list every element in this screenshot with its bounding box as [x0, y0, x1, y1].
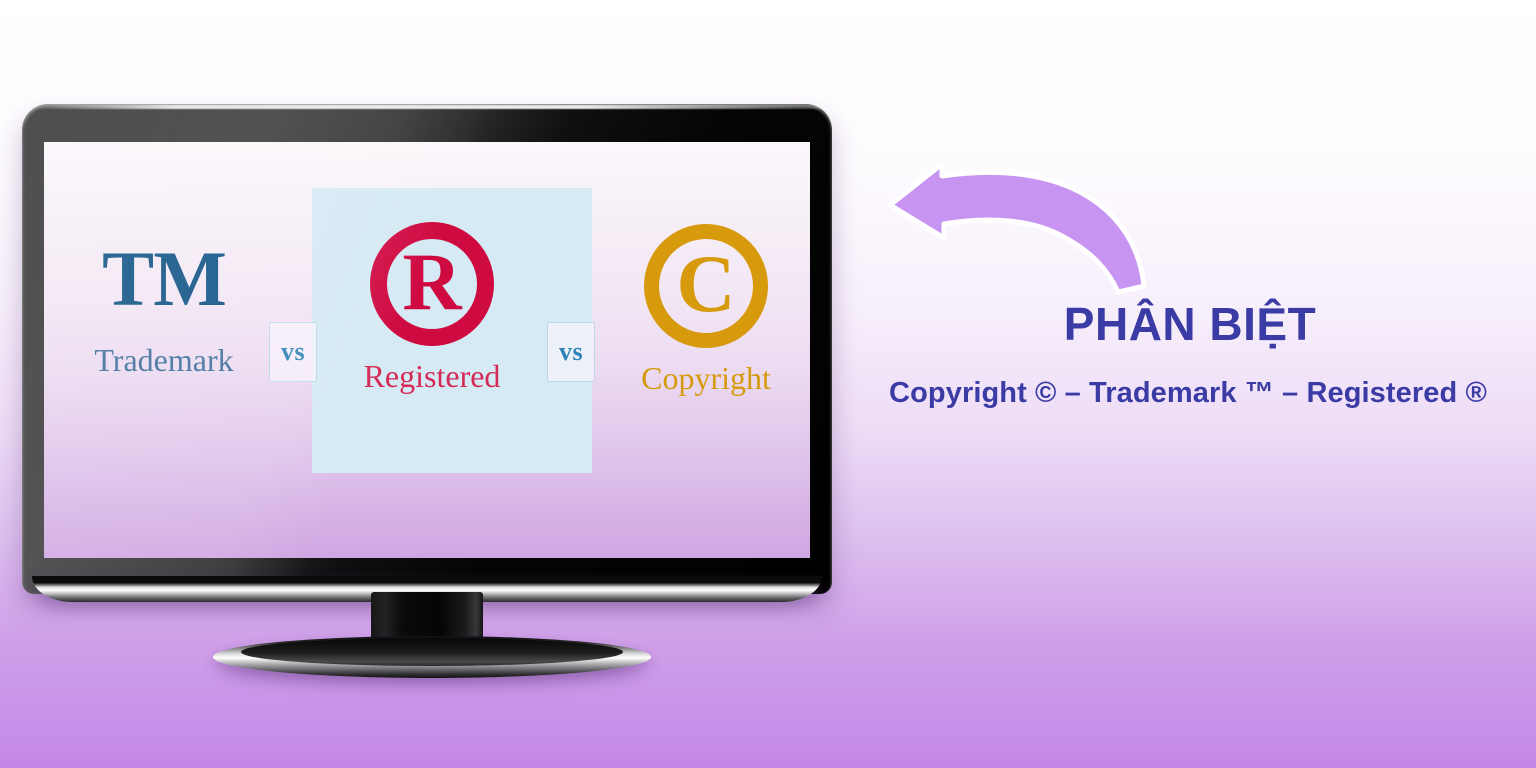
- registered-caption: Registered: [332, 360, 532, 392]
- monitor-bezel: TM Trademark vs R Registered vs: [22, 104, 832, 594]
- subline-symbol-list: Copyright © – Trademark ™ – Registered ®: [840, 378, 1536, 410]
- symbols-row: TM Trademark vs R Registered vs: [44, 142, 810, 558]
- curved-arrow-icon: [868, 158, 1188, 298]
- trademark-item: TM Trademark: [64, 240, 264, 376]
- headline-phan-biet: PHÂN BIỆT: [860, 300, 1520, 348]
- trademark-caption: Trademark: [64, 344, 264, 376]
- vs-separator-left: vs: [269, 322, 317, 382]
- registered-letter: R: [370, 222, 494, 346]
- registered-circle-r-icon: R: [370, 222, 494, 346]
- copyright-caption: Copyright: [606, 362, 806, 394]
- trademark-tm-icon: TM: [64, 240, 264, 318]
- registered-item: R Registered: [332, 222, 532, 392]
- monitor-screen: TM Trademark vs R Registered vs: [44, 142, 810, 558]
- arrow-shape: [890, 164, 1144, 292]
- copyright-letter: C: [644, 224, 768, 348]
- vs-separator-right: vs: [547, 322, 595, 382]
- poster-canvas: TM Trademark vs R Registered vs: [0, 0, 1536, 768]
- computer-monitor: TM Trademark vs R Registered vs: [22, 104, 832, 684]
- copyright-circle-c-icon: C: [644, 224, 768, 348]
- monitor-stand-base-inner: [241, 638, 623, 666]
- monitor-bezel-top-highlight: [32, 105, 822, 109]
- copyright-item: C Copyright: [606, 224, 806, 394]
